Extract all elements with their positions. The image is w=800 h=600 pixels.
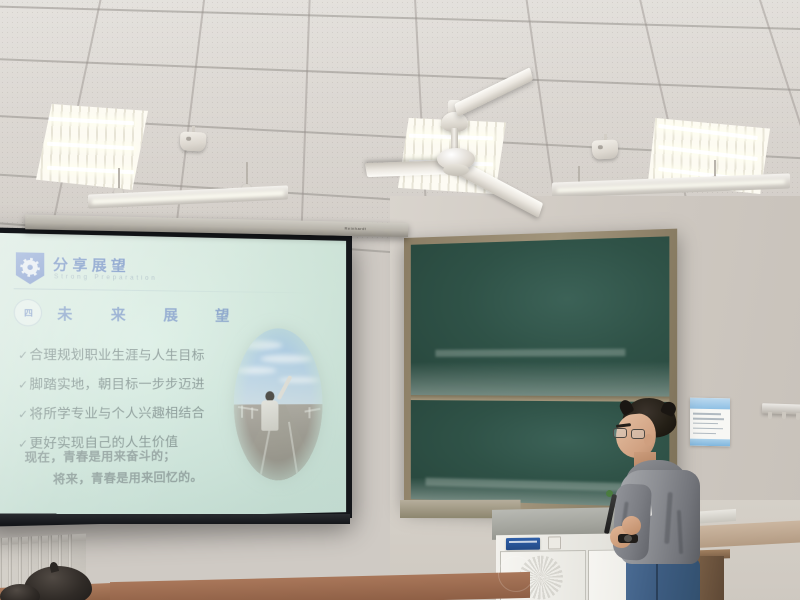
section-number-label: 四 bbox=[24, 307, 32, 319]
list-item: ✓将所学专业与个人兴趣相结合 bbox=[18, 401, 235, 422]
jeans-seam bbox=[656, 562, 658, 600]
radiator-top bbox=[0, 534, 86, 546]
ceiling-light-panel bbox=[36, 104, 148, 190]
list-item: ✓脚踏实地，朝目标一步步迈进 bbox=[18, 373, 235, 393]
slide-bullet-list: ✓合理规划职业生涯与人生目标 ✓脚踏实地，朝目标一步步迈进 ✓将所学专业与个人兴… bbox=[18, 343, 235, 461]
glasses-lens bbox=[613, 428, 627, 438]
check-icon: ✓ bbox=[18, 409, 28, 422]
classroom-photo: Reinhardt 分享展望 Strong Preparation 四 未 来 … bbox=[0, 0, 800, 600]
gear-icon bbox=[22, 260, 37, 275]
check-icon: ✓ bbox=[18, 379, 28, 392]
quote-line-2: 将来，青春是用来回忆的。 bbox=[25, 467, 267, 488]
glasses-icon bbox=[613, 428, 646, 439]
fan-hub-lower bbox=[443, 164, 469, 176]
chalk-haze bbox=[411, 361, 670, 396]
blackboard-panel-upper bbox=[411, 236, 670, 396]
rack-hook bbox=[768, 412, 772, 419]
slide-logo-title: 分享展望 bbox=[53, 254, 130, 276]
smoke-detector-icon bbox=[592, 139, 619, 159]
slide-logo-rule bbox=[14, 288, 317, 293]
podium-blue-label bbox=[506, 538, 540, 550]
presentation-slide: 分享展望 Strong Preparation 四 未 来 展 望 ✓合理规划职… bbox=[0, 233, 346, 521]
quote-line-1: 现在，青春是用来奋斗的； bbox=[25, 446, 267, 466]
rack-hook bbox=[796, 413, 800, 420]
check-icon: ✓ bbox=[18, 350, 28, 363]
glasses-lens bbox=[631, 429, 645, 439]
housing-brand-label: Reinhardt bbox=[345, 226, 367, 232]
slide-logo-subtitle: Strong Preparation bbox=[54, 274, 157, 282]
chalk-residue bbox=[435, 349, 625, 357]
smoke-detector-icon bbox=[180, 131, 207, 151]
lens-artifact bbox=[498, 556, 534, 592]
oval-photo-person-on-road bbox=[234, 328, 323, 481]
section-number-icon: 四 bbox=[14, 299, 42, 327]
bullet-text: 合理规划职业生涯与人生目标 bbox=[29, 347, 204, 362]
rack-hook bbox=[782, 412, 786, 419]
fabric-fold bbox=[664, 492, 673, 544]
presenter-hand bbox=[622, 516, 641, 535]
slide-section-title: 未 来 展 望 bbox=[57, 304, 245, 327]
slide-quote: 现在，青春是用来奋斗的； 将来，青春是用来回忆的。 bbox=[25, 446, 267, 488]
photo-vignette bbox=[234, 328, 323, 481]
projector-screen[interactable]: 分享展望 Strong Preparation 四 未 来 展 望 ✓合理规划职… bbox=[0, 227, 352, 527]
fabric-fold bbox=[677, 510, 683, 554]
presenter-jeans bbox=[626, 558, 700, 600]
projector-screen-bottom-bar bbox=[0, 514, 350, 525]
list-item: ✓合理规划职业生涯与人生目标 bbox=[18, 343, 235, 364]
presenter bbox=[604, 398, 722, 600]
wall-socket bbox=[548, 536, 561, 549]
desk-surface bbox=[110, 572, 530, 600]
slide-logo-shield bbox=[16, 252, 44, 284]
wristwatch bbox=[618, 534, 638, 543]
bullet-text: 将所学专业与个人兴趣相结合 bbox=[29, 406, 204, 422]
bullet-text: 脚踏实地，朝目标一步步迈进 bbox=[29, 377, 204, 392]
